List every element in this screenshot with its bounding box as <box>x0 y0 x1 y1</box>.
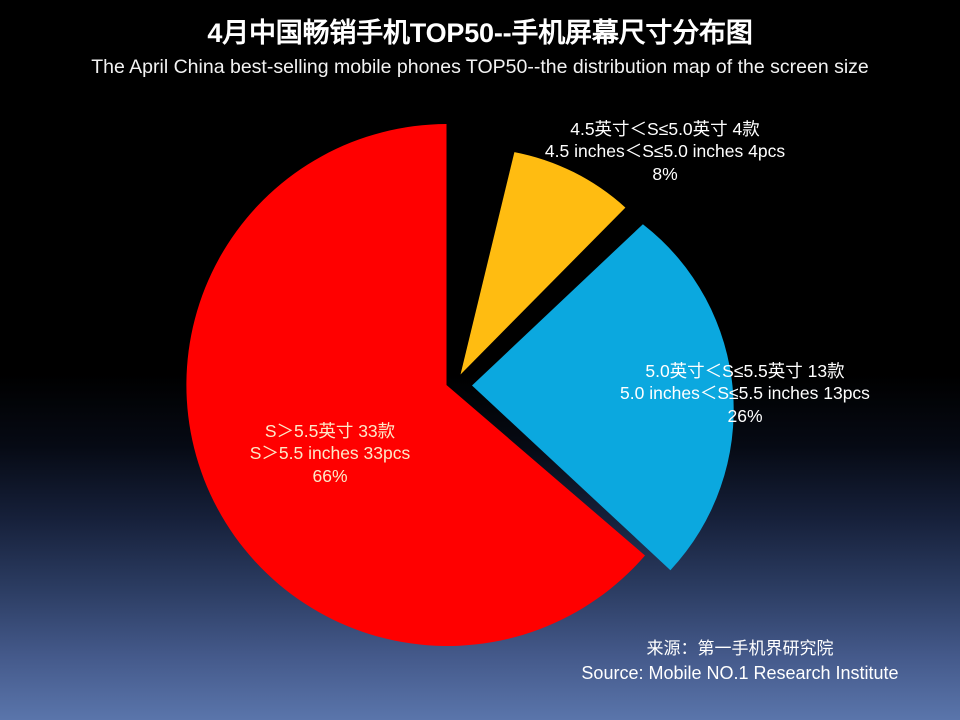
source-block: 来源：第一手机界研究院 Source: Mobile NO.1 Research… <box>540 638 940 685</box>
pie-chart-svg <box>0 0 960 720</box>
source-text-en: Source: Mobile NO.1 Research Institute <box>540 661 940 685</box>
slide-canvas: 4月中国畅销手机TOP50--手机屏幕尺寸分布图 The April China… <box>0 0 960 720</box>
source-text-cn: 来源：第一手机界研究院 <box>540 638 940 661</box>
pie-chart <box>0 0 960 720</box>
